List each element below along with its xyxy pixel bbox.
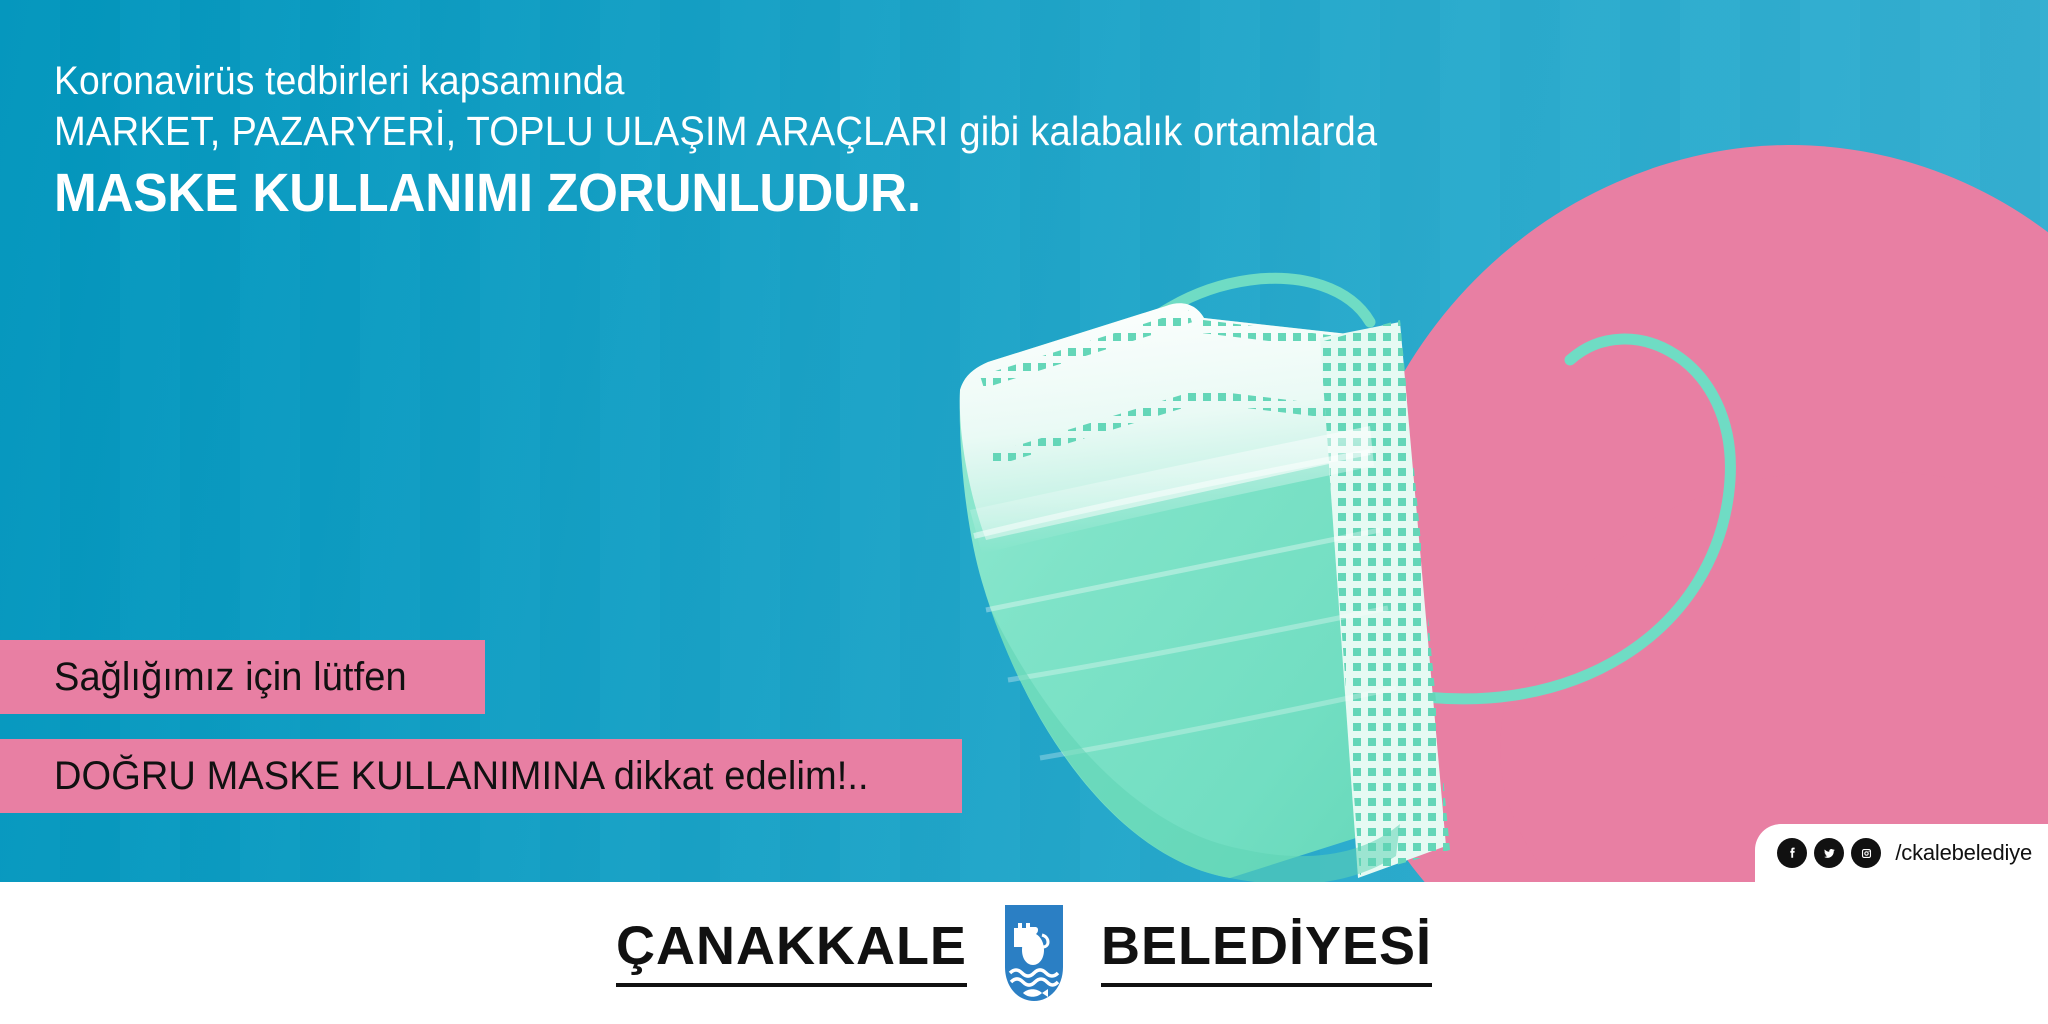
social-handle: /ckalebelediye [1895, 840, 2032, 866]
ear-loop-right [1382, 339, 1730, 699]
headline-block: Koronavirüs tedbirleri kapsamında MARKET… [54, 58, 1754, 227]
slogan-banner-secondary: DOĞRU MASKE KULLANIMINA dikkat edelim!.. [0, 739, 962, 813]
footer-logo-lockup: ÇANAKKALE BELEDİYESİ [0, 882, 2048, 1024]
canakkale-belediyesi-crest [997, 901, 1071, 1005]
facebook-icon[interactable] [1777, 838, 1807, 868]
social-media-strip: /ckalebelediye [1755, 824, 2048, 882]
slogan-banner-primary: Sağlığımız için lütfen [0, 640, 485, 714]
municipality-name-right: BELEDİYESİ [1101, 919, 1432, 986]
slogan-banner-secondary-text: DOĞRU MASKE KULLANIMINA dikkat edelim!.. [54, 754, 869, 799]
headline-large: MASKE KULLANIMI ZORUNLUDUR. [54, 160, 1669, 228]
poster-canvas: Koronavirüs tedbirleri kapsamında MARKET… [0, 0, 2048, 1024]
municipality-name-left: ÇANAKKALE [616, 919, 967, 986]
headline-small: Koronavirüs tedbirleri kapsamında [54, 58, 1635, 105]
face-mask-illustration [930, 210, 2048, 882]
slogan-banner-primary-text: Sağlığımız için lütfen [54, 655, 407, 700]
twitter-icon[interactable] [1814, 838, 1844, 868]
artwork-panel: Koronavirüs tedbirleri kapsamında MARKET… [0, 0, 2048, 882]
instagram-icon[interactable] [1851, 838, 1881, 868]
headline-medium: MARKET, PAZARYERİ, TOPLU ULAŞIM ARAÇLARI… [54, 105, 1635, 157]
